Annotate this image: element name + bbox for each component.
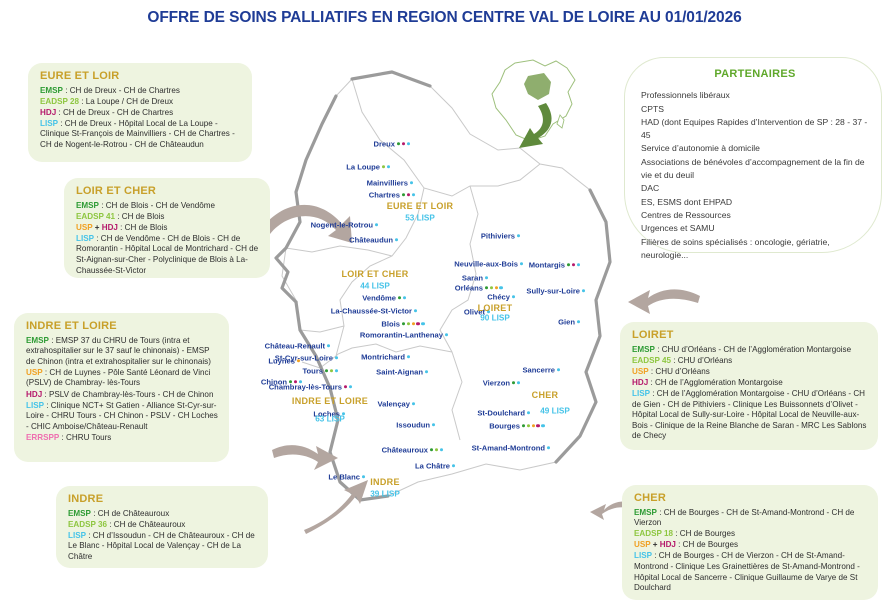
city-label: Château-Renault bbox=[265, 342, 325, 351]
service-dot-emsp bbox=[325, 369, 328, 372]
service-dot-eadsp bbox=[435, 448, 438, 451]
service-dot-lisp bbox=[395, 238, 398, 241]
region-lisp-count: 44 LISP bbox=[360, 282, 390, 291]
dept-service-line: USP : CHU d’Orléans bbox=[632, 367, 868, 378]
city-service-dots bbox=[485, 286, 503, 289]
service-dot-hdj bbox=[402, 142, 405, 145]
dept-service-line: ERRSPP : CHRU Tours bbox=[26, 433, 219, 444]
city-label: Issoudun bbox=[396, 421, 430, 430]
service-dot-lisp bbox=[541, 424, 544, 427]
city-service-dots bbox=[512, 381, 520, 384]
service-dot-usp bbox=[495, 286, 498, 289]
city-service-dots bbox=[547, 446, 550, 449]
service-dot-eadsp bbox=[330, 369, 333, 372]
dept-service-line: EMSP : EMSP 37 du CHRU de Tours (intra e… bbox=[26, 336, 219, 368]
service-dot-lisp bbox=[577, 263, 580, 266]
region-name-label: EURE ET LOIR bbox=[387, 201, 454, 211]
dept-service-line: LISP : CH de Bourges - CH de Vierzon - C… bbox=[634, 551, 868, 593]
city-service-dots bbox=[335, 356, 338, 359]
city-service-dots bbox=[382, 165, 390, 168]
service-dot-hdj bbox=[344, 385, 347, 388]
service-dot-hdj bbox=[416, 322, 419, 325]
plus-separator: + bbox=[93, 223, 102, 232]
service-key: USP bbox=[76, 223, 93, 232]
service-dot-lisp bbox=[349, 385, 352, 388]
poster-canvas: OFFRE DE SOINS PALLIATIFS EN REGION CENT… bbox=[0, 0, 889, 613]
partner-item: Urgences et SAMU bbox=[641, 222, 869, 235]
city-service-dots bbox=[398, 296, 406, 299]
service-key: LISP bbox=[68, 531, 86, 540]
service-dot-hdj bbox=[536, 424, 539, 427]
info-box-loiret: LOIRET EMSP : CHU d’Orléans - CH de l’Ag… bbox=[620, 322, 878, 450]
city-service-dots bbox=[430, 448, 443, 451]
service-key: EMSP bbox=[26, 336, 49, 345]
city-service-dots bbox=[452, 464, 455, 467]
plus-separator: + bbox=[651, 540, 660, 549]
dept-service-line: EADSP 41 : CH de Blois bbox=[76, 212, 260, 223]
dept-heading: LOIRET bbox=[632, 330, 868, 341]
city-label: La Châtre bbox=[415, 462, 450, 471]
city-label: Nogent-le-Rotrou bbox=[311, 221, 373, 230]
service-dot-lisp bbox=[547, 446, 550, 449]
service-dot-emsp bbox=[567, 263, 570, 266]
dept-service-line: EMSP : CH de Bourges - CH de St-Amand-Mo… bbox=[634, 508, 868, 529]
partner-item: Service d’autonomie à domicile bbox=[641, 142, 869, 155]
service-key: EADSP 45 bbox=[632, 356, 671, 365]
service-key: EMSP bbox=[68, 509, 91, 518]
dept-service-line: USP + HDJ : CH de Bourges bbox=[634, 540, 868, 551]
map-labels-layer: DreuxLa LoupeMainvilliersChartresNogent-… bbox=[245, 50, 665, 605]
city-service-dots bbox=[402, 322, 425, 325]
service-dot-lisp bbox=[410, 181, 413, 184]
dept-heading: INDRE ET LOIRE bbox=[26, 321, 219, 332]
info-box-eure-et-loir: EURE ET LOIR EMSP : CH de Dreux - CH de … bbox=[28, 63, 252, 162]
city-label: Blois bbox=[381, 320, 400, 329]
service-dot-lisp bbox=[407, 355, 410, 358]
service-key: EADSP 41 bbox=[76, 212, 115, 221]
city-label: Montrichard bbox=[361, 353, 405, 362]
city-label: Sully-sur-Loire bbox=[526, 287, 580, 296]
service-dot-eadsp bbox=[382, 165, 385, 168]
city-service-dots bbox=[402, 193, 415, 196]
service-dot-lisp bbox=[517, 234, 520, 237]
city-label: Vierzon bbox=[483, 379, 510, 388]
service-key: LISP bbox=[26, 401, 44, 410]
city-label: Mainvilliers bbox=[367, 179, 408, 188]
dept-service-line: EADSP 36 : CH de Châteauroux bbox=[68, 520, 258, 531]
region-name-label: CHER bbox=[532, 390, 559, 400]
dept-heading: EURE ET LOIR bbox=[40, 71, 242, 82]
city-label: Saran bbox=[462, 274, 483, 283]
service-dot-lisp bbox=[327, 344, 330, 347]
dept-service-line: HDJ : CH de Dreux - CH de Chartres bbox=[40, 108, 242, 119]
city-label: Chartres bbox=[369, 191, 400, 200]
partner-item: CPTS bbox=[641, 103, 869, 116]
service-key: HDJ bbox=[40, 108, 56, 117]
city-service-dots bbox=[522, 424, 545, 427]
city-service-dots bbox=[412, 402, 415, 405]
city-service-dots bbox=[582, 289, 585, 292]
service-dot-lisp bbox=[375, 223, 378, 226]
city-label: Le Blanc bbox=[328, 473, 360, 482]
service-key: EMSP bbox=[632, 345, 655, 354]
region-lisp-count: 53 LISP bbox=[405, 214, 435, 223]
region-name-label: INDRE bbox=[370, 477, 400, 487]
dept-service-line: USP : CH de Luynes - Pôle Santé Léonard … bbox=[26, 368, 219, 389]
service-dot-emsp bbox=[512, 381, 515, 384]
service-dot-lisp bbox=[485, 276, 488, 279]
service-dot-lisp bbox=[445, 333, 448, 336]
city-label: Valençay bbox=[377, 400, 410, 409]
city-label: Chécy bbox=[487, 293, 510, 302]
service-dot-eadsp bbox=[407, 322, 410, 325]
city-service-dots bbox=[327, 344, 330, 347]
city-service-dots bbox=[445, 333, 448, 336]
service-dot-lisp bbox=[412, 402, 415, 405]
service-dot-lisp bbox=[335, 356, 338, 359]
dept-service-line: EMSP : CH de Blois - CH de Vendôme bbox=[76, 201, 260, 212]
city-service-dots bbox=[344, 385, 352, 388]
city-service-dots bbox=[485, 276, 488, 279]
service-key: EMSP bbox=[76, 201, 99, 210]
region-name-label: LOIR ET CHER bbox=[341, 269, 408, 279]
service-dot-usp bbox=[532, 424, 535, 427]
partner-item: HAD (dont Equipes Rapides d’Intervention… bbox=[641, 116, 869, 143]
city-label: La-Chaussée-St-Victor bbox=[331, 307, 412, 316]
city-service-dots bbox=[395, 238, 398, 241]
dept-lines: EMSP : CH de Bourges - CH de St-Amand-Mo… bbox=[634, 508, 868, 594]
service-dot-lisp bbox=[499, 286, 502, 289]
city-service-dots bbox=[375, 223, 378, 226]
city-service-dots bbox=[407, 355, 410, 358]
region-lisp-count: 49 LISP bbox=[540, 407, 570, 416]
city-service-dots bbox=[432, 423, 435, 426]
service-dot-hdj bbox=[407, 193, 410, 196]
city-label: Chambray-lès-Tours bbox=[269, 383, 342, 392]
service-dot-usp bbox=[412, 322, 415, 325]
dept-lines: EMSP : CHU d’Orléans - CH de l’Aggloméra… bbox=[632, 345, 868, 442]
service-key: LISP bbox=[40, 119, 58, 128]
dept-service-line: LISP : CH de l’Agglomération Montargoise… bbox=[632, 389, 868, 442]
city-label: Châteauroux bbox=[382, 446, 428, 455]
region-lisp-count: 39 LISP bbox=[370, 490, 400, 499]
city-service-dots bbox=[557, 368, 560, 371]
service-key: EADSP 28 bbox=[40, 97, 79, 106]
service-key: LISP bbox=[76, 234, 94, 243]
city-label: Bourges bbox=[489, 422, 520, 431]
dept-service-line: HDJ : PSLV de Chambray-lès-Tours - CH de… bbox=[26, 390, 219, 401]
partners-list: Professionnels libérauxCPTSHAD (dont Equ… bbox=[641, 89, 869, 262]
city-label: Montargis bbox=[529, 261, 565, 270]
city-service-dots bbox=[325, 369, 338, 372]
city-label: St-Doulchard bbox=[477, 409, 525, 418]
city-label: St-Cyr-sur-Loire bbox=[275, 354, 333, 363]
city-service-dots bbox=[527, 411, 530, 414]
service-dot-lisp bbox=[520, 262, 523, 265]
service-dot-lisp bbox=[517, 381, 520, 384]
dept-lines: EMSP : CH de Blois - CH de VendômeEADSP … bbox=[76, 201, 260, 277]
service-key: HDJ bbox=[102, 223, 118, 232]
dept-service-line: EADSP 18 : CH de Bourges bbox=[634, 529, 868, 540]
city-label: Gien bbox=[558, 318, 575, 327]
dept-service-line: EADSP 45 : CHU d’Orléans bbox=[632, 356, 868, 367]
service-key: EADSP 36 bbox=[68, 520, 107, 529]
service-key: HDJ bbox=[660, 540, 676, 549]
service-key: EADSP 18 bbox=[634, 529, 673, 538]
region-name-label: LOIRET bbox=[478, 303, 513, 313]
service-dot-lisp bbox=[557, 368, 560, 371]
dept-service-line: LISP : CH d’Issoudun - CH de Châteauroux… bbox=[68, 531, 258, 563]
service-dot-lisp bbox=[440, 448, 443, 451]
dept-service-line: EMSP : CH de Dreux - CH de Chartres bbox=[40, 86, 242, 97]
dept-service-line: LISP : CH de Dreux - Hôpital Local de La… bbox=[40, 119, 242, 151]
service-key: HDJ bbox=[26, 390, 42, 399]
service-dot-hdj bbox=[572, 263, 575, 266]
dept-heading: LOIR ET CHER bbox=[76, 186, 260, 197]
service-dot-lisp bbox=[387, 165, 390, 168]
partner-item: Centres de Ressources bbox=[641, 209, 869, 222]
service-dot-emsp bbox=[402, 322, 405, 325]
service-dot-lisp bbox=[412, 193, 415, 196]
dept-heading: INDRE bbox=[68, 494, 258, 505]
service-key: EMSP bbox=[40, 86, 63, 95]
dept-service-line: USP + HDJ : CH de Blois bbox=[76, 223, 260, 234]
service-dot-lisp bbox=[403, 296, 406, 299]
service-dot-lisp bbox=[335, 369, 338, 372]
service-dot-lisp bbox=[512, 295, 515, 298]
service-key: USP bbox=[26, 368, 43, 377]
city-label: St-Amand-Montrond bbox=[472, 444, 545, 453]
service-dot-emsp bbox=[398, 296, 401, 299]
partner-item: Filières de soins spécialisés : oncologi… bbox=[641, 236, 869, 263]
info-box-cher: CHER EMSP : CH de Bourges - CH de St-Ama… bbox=[622, 485, 878, 600]
info-box-partenaires: PARTENAIRES Professionnels libérauxCPTSH… bbox=[624, 57, 882, 253]
region-lisp-count: 63 LISP bbox=[315, 415, 345, 424]
service-dot-lisp bbox=[407, 142, 410, 145]
partner-item: DAC bbox=[641, 182, 869, 195]
city-label: Saint-Aignan bbox=[376, 368, 423, 377]
city-label: Tours bbox=[302, 367, 323, 376]
dept-lines: EMSP : EMSP 37 du CHRU de Tours (intra e… bbox=[26, 336, 219, 444]
service-dot-lisp bbox=[432, 423, 435, 426]
city-label: Dreux bbox=[373, 140, 395, 149]
city-service-dots bbox=[567, 263, 580, 266]
service-dot-emsp bbox=[430, 448, 433, 451]
city-label: Neuville-aux-Bois bbox=[454, 260, 518, 269]
dept-lines: EMSP : CH de Dreux - CH de ChartresEADSP… bbox=[40, 86, 242, 151]
service-key: LISP bbox=[634, 551, 652, 560]
info-box-loir-et-cher: LOIR ET CHER EMSP : CH de Blois - CH de … bbox=[64, 178, 270, 278]
city-label: La Loupe bbox=[346, 163, 380, 172]
city-service-dots bbox=[425, 370, 428, 373]
city-service-dots bbox=[414, 309, 417, 312]
city-label: Orléans bbox=[455, 284, 483, 293]
service-dot-lisp bbox=[582, 289, 585, 292]
region-name-label: INDRE ET LOIRE bbox=[292, 396, 368, 406]
service-dot-emsp bbox=[522, 424, 525, 427]
service-dot-lisp bbox=[421, 322, 424, 325]
service-key: LISP bbox=[632, 389, 650, 398]
info-box-indre: INDRE EMSP : CH de ChâteaurouxEADSP 36 :… bbox=[56, 486, 268, 568]
service-dot-eadsp bbox=[490, 286, 493, 289]
city-service-dots bbox=[577, 320, 580, 323]
info-box-indre-et-loire: INDRE ET LOIRE EMSP : EMSP 37 du CHRU de… bbox=[14, 313, 229, 462]
partner-item: ES, ESMS dont EHPAD bbox=[641, 196, 869, 209]
service-dot-lisp bbox=[452, 464, 455, 467]
dept-lines: EMSP : CH de ChâteaurouxEADSP 36 : CH de… bbox=[68, 509, 258, 563]
service-dot-eadsp bbox=[527, 424, 530, 427]
city-service-dots bbox=[410, 181, 413, 184]
dept-service-line: EMSP : CH de Châteauroux bbox=[68, 509, 258, 520]
service-dot-lisp bbox=[577, 320, 580, 323]
dept-service-line: LISP : CH de Vendôme - CH de Blois - CH … bbox=[76, 234, 260, 276]
city-service-dots bbox=[512, 295, 515, 298]
service-dot-lisp bbox=[414, 309, 417, 312]
service-key: EMSP bbox=[634, 508, 657, 517]
city-label: Vendôme bbox=[362, 294, 396, 303]
service-dot-lisp bbox=[527, 411, 530, 414]
partners-title: PARTENAIRES bbox=[641, 68, 869, 81]
dept-heading: CHER bbox=[634, 493, 868, 504]
city-label: Sancerre bbox=[522, 366, 555, 375]
partner-item: Professionnels libéraux bbox=[641, 89, 869, 102]
city-label: Pithiviers bbox=[481, 232, 515, 241]
service-dot-emsp bbox=[402, 193, 405, 196]
region-lisp-count: 90 LISP bbox=[480, 314, 510, 323]
city-label: Romorantin-Lanthenay bbox=[360, 331, 443, 340]
dept-service-line: LISP : Clinique NCT+ St Gatien - Allianc… bbox=[26, 401, 219, 433]
city-service-dots bbox=[520, 262, 523, 265]
dept-service-line: EADSP 28 : La Loupe / CH de Dreux bbox=[40, 97, 242, 108]
service-key: HDJ bbox=[632, 378, 648, 387]
service-key: USP bbox=[632, 367, 649, 376]
city-service-dots bbox=[517, 234, 520, 237]
service-dot-lisp bbox=[362, 475, 365, 478]
dept-service-line: HDJ : CH de l’Agglomération Montargoise bbox=[632, 378, 868, 389]
service-dot-emsp bbox=[485, 286, 488, 289]
service-dot-emsp bbox=[397, 142, 400, 145]
city-label: Châteaudun bbox=[349, 236, 393, 245]
service-dot-lisp bbox=[425, 370, 428, 373]
service-key: USP bbox=[634, 540, 651, 549]
partner-item: Associations de bénévoles d’accompagneme… bbox=[641, 156, 869, 183]
city-service-dots bbox=[362, 475, 365, 478]
city-service-dots bbox=[397, 142, 410, 145]
dept-service-line: EMSP : CHU d’Orléans - CH de l’Aggloméra… bbox=[632, 345, 868, 356]
service-key: ERRSPP bbox=[26, 433, 59, 442]
